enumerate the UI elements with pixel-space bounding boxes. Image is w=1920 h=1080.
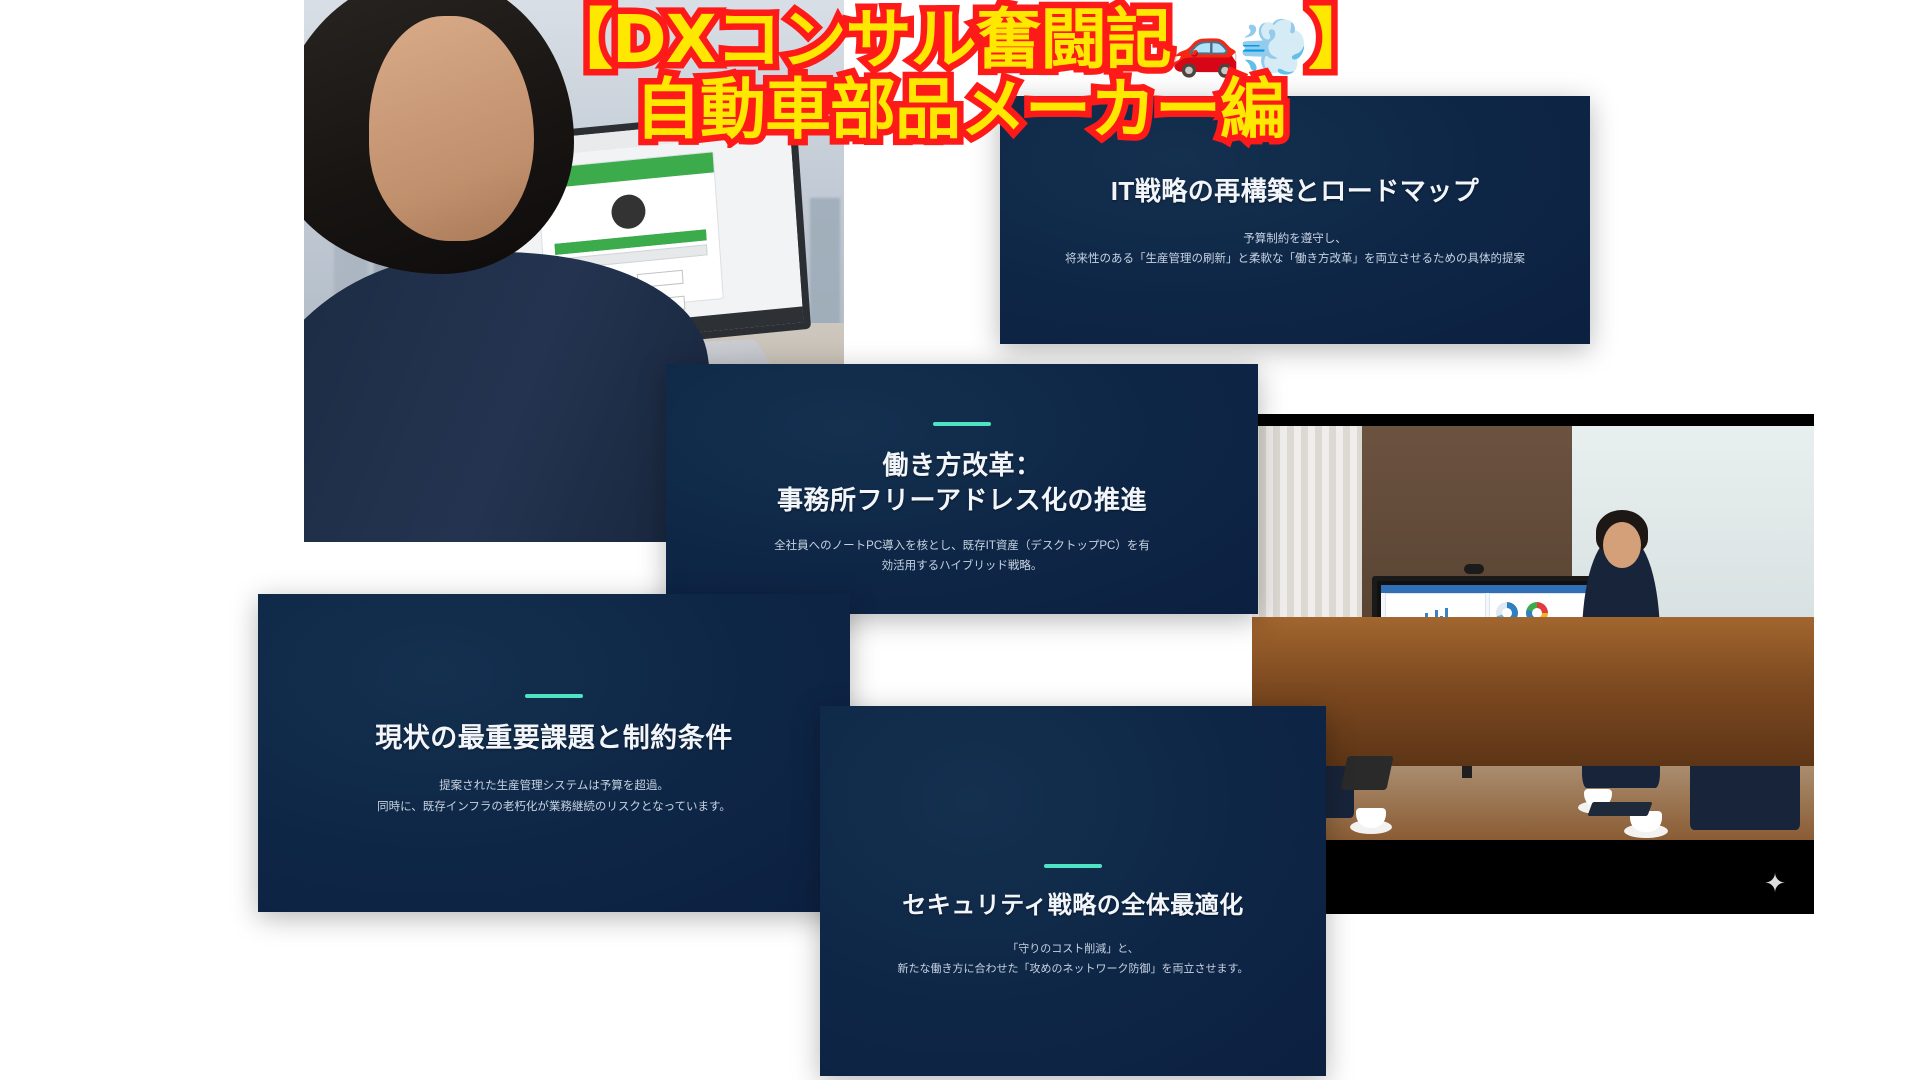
- slide-current-issues[interactable]: 現状の最重要課題と制約条件 提案された生産管理システムは予算を超過。 同時に、既…: [258, 594, 850, 912]
- slide-title: IT戦略の再構築とロードマップ: [1111, 174, 1480, 209]
- dashboard-titlebar: [1381, 585, 1593, 593]
- headline-overlay: 【DXコンサル奮闘記🚗💨】 自動車部品メーカー編: [0, 6, 1920, 143]
- businessman-head: [304, 0, 574, 274]
- slide-security-strategy[interactable]: セキュリティ戦略の全体最適化 「守りのコスト削減」と、 新たな働き方に合わせた「…: [820, 706, 1326, 1076]
- slide-subtitle: 予算制約を遵守し、 将来性のある「生産管理の刷新」と柔軟な「働き方改革」を両立さ…: [1065, 229, 1525, 269]
- meeting-room: [1252, 426, 1814, 840]
- slide-subtitle: 「守りのコスト削減」と、 新たな働き方に合わせた「攻めのネットワーク防御」を両立…: [898, 940, 1249, 979]
- accent-rule: [525, 694, 583, 698]
- tablet-device: [1340, 756, 1393, 790]
- slide-subtitle: 全社員へのノートPC導入を核とし、既存IT資産（デスクトップPC）を有 効活用す…: [774, 536, 1150, 576]
- businessman-face: [369, 16, 534, 241]
- slide-title: 働き方改革： 事務所フリーアドレス化の推進: [777, 448, 1147, 518]
- webcam-icon: [1464, 564, 1484, 574]
- slide-title: セキュリティ戦略の全体最適化: [902, 890, 1244, 922]
- headline-line-1: 【DXコンサル奮闘記🚗💨】: [0, 6, 1920, 76]
- letterbox-bottom: ✦: [1252, 840, 1814, 914]
- slide-it-strategy[interactable]: IT戦略の再構築とロードマップ 予算制約を遵守し、 将来性のある「生産管理の刷新…: [1000, 96, 1590, 344]
- slide-workstyle-reform[interactable]: 働き方改革： 事務所フリーアドレス化の推進 全社員へのノートPC導入を核とし、既…: [666, 364, 1258, 614]
- presentation-collage: ✦ IT戦略の再構築とロードマップ 予算制約を遵守し、 将来性のある「生産管理の…: [0, 0, 1920, 1080]
- dash-icon: 💨: [1239, 15, 1308, 80]
- photo-boardroom-meeting: ✦: [1252, 414, 1814, 914]
- sparkle-icon: ✦: [1762, 870, 1788, 896]
- accent-rule: [933, 422, 991, 426]
- slide-title: 現状の最重要課題と制約条件: [375, 720, 733, 756]
- presenter-head: [1603, 522, 1641, 568]
- lock-icon: [610, 193, 646, 230]
- car-icon: 🚗: [1171, 15, 1240, 80]
- headline-text-suffix: 】: [1308, 1, 1373, 78]
- slide-subtitle: 提案された生産管理システムは予算を超過。 同時に、既存インフラの老朽化が業務継続…: [377, 776, 731, 816]
- letterbox-top: [1252, 414, 1814, 426]
- notebook: [1587, 802, 1652, 816]
- headline-line-2: 自動車部品メーカー編: [0, 76, 1920, 143]
- accent-rule: [1044, 864, 1102, 868]
- conference-table: [1252, 617, 1814, 766]
- building: [810, 198, 840, 334]
